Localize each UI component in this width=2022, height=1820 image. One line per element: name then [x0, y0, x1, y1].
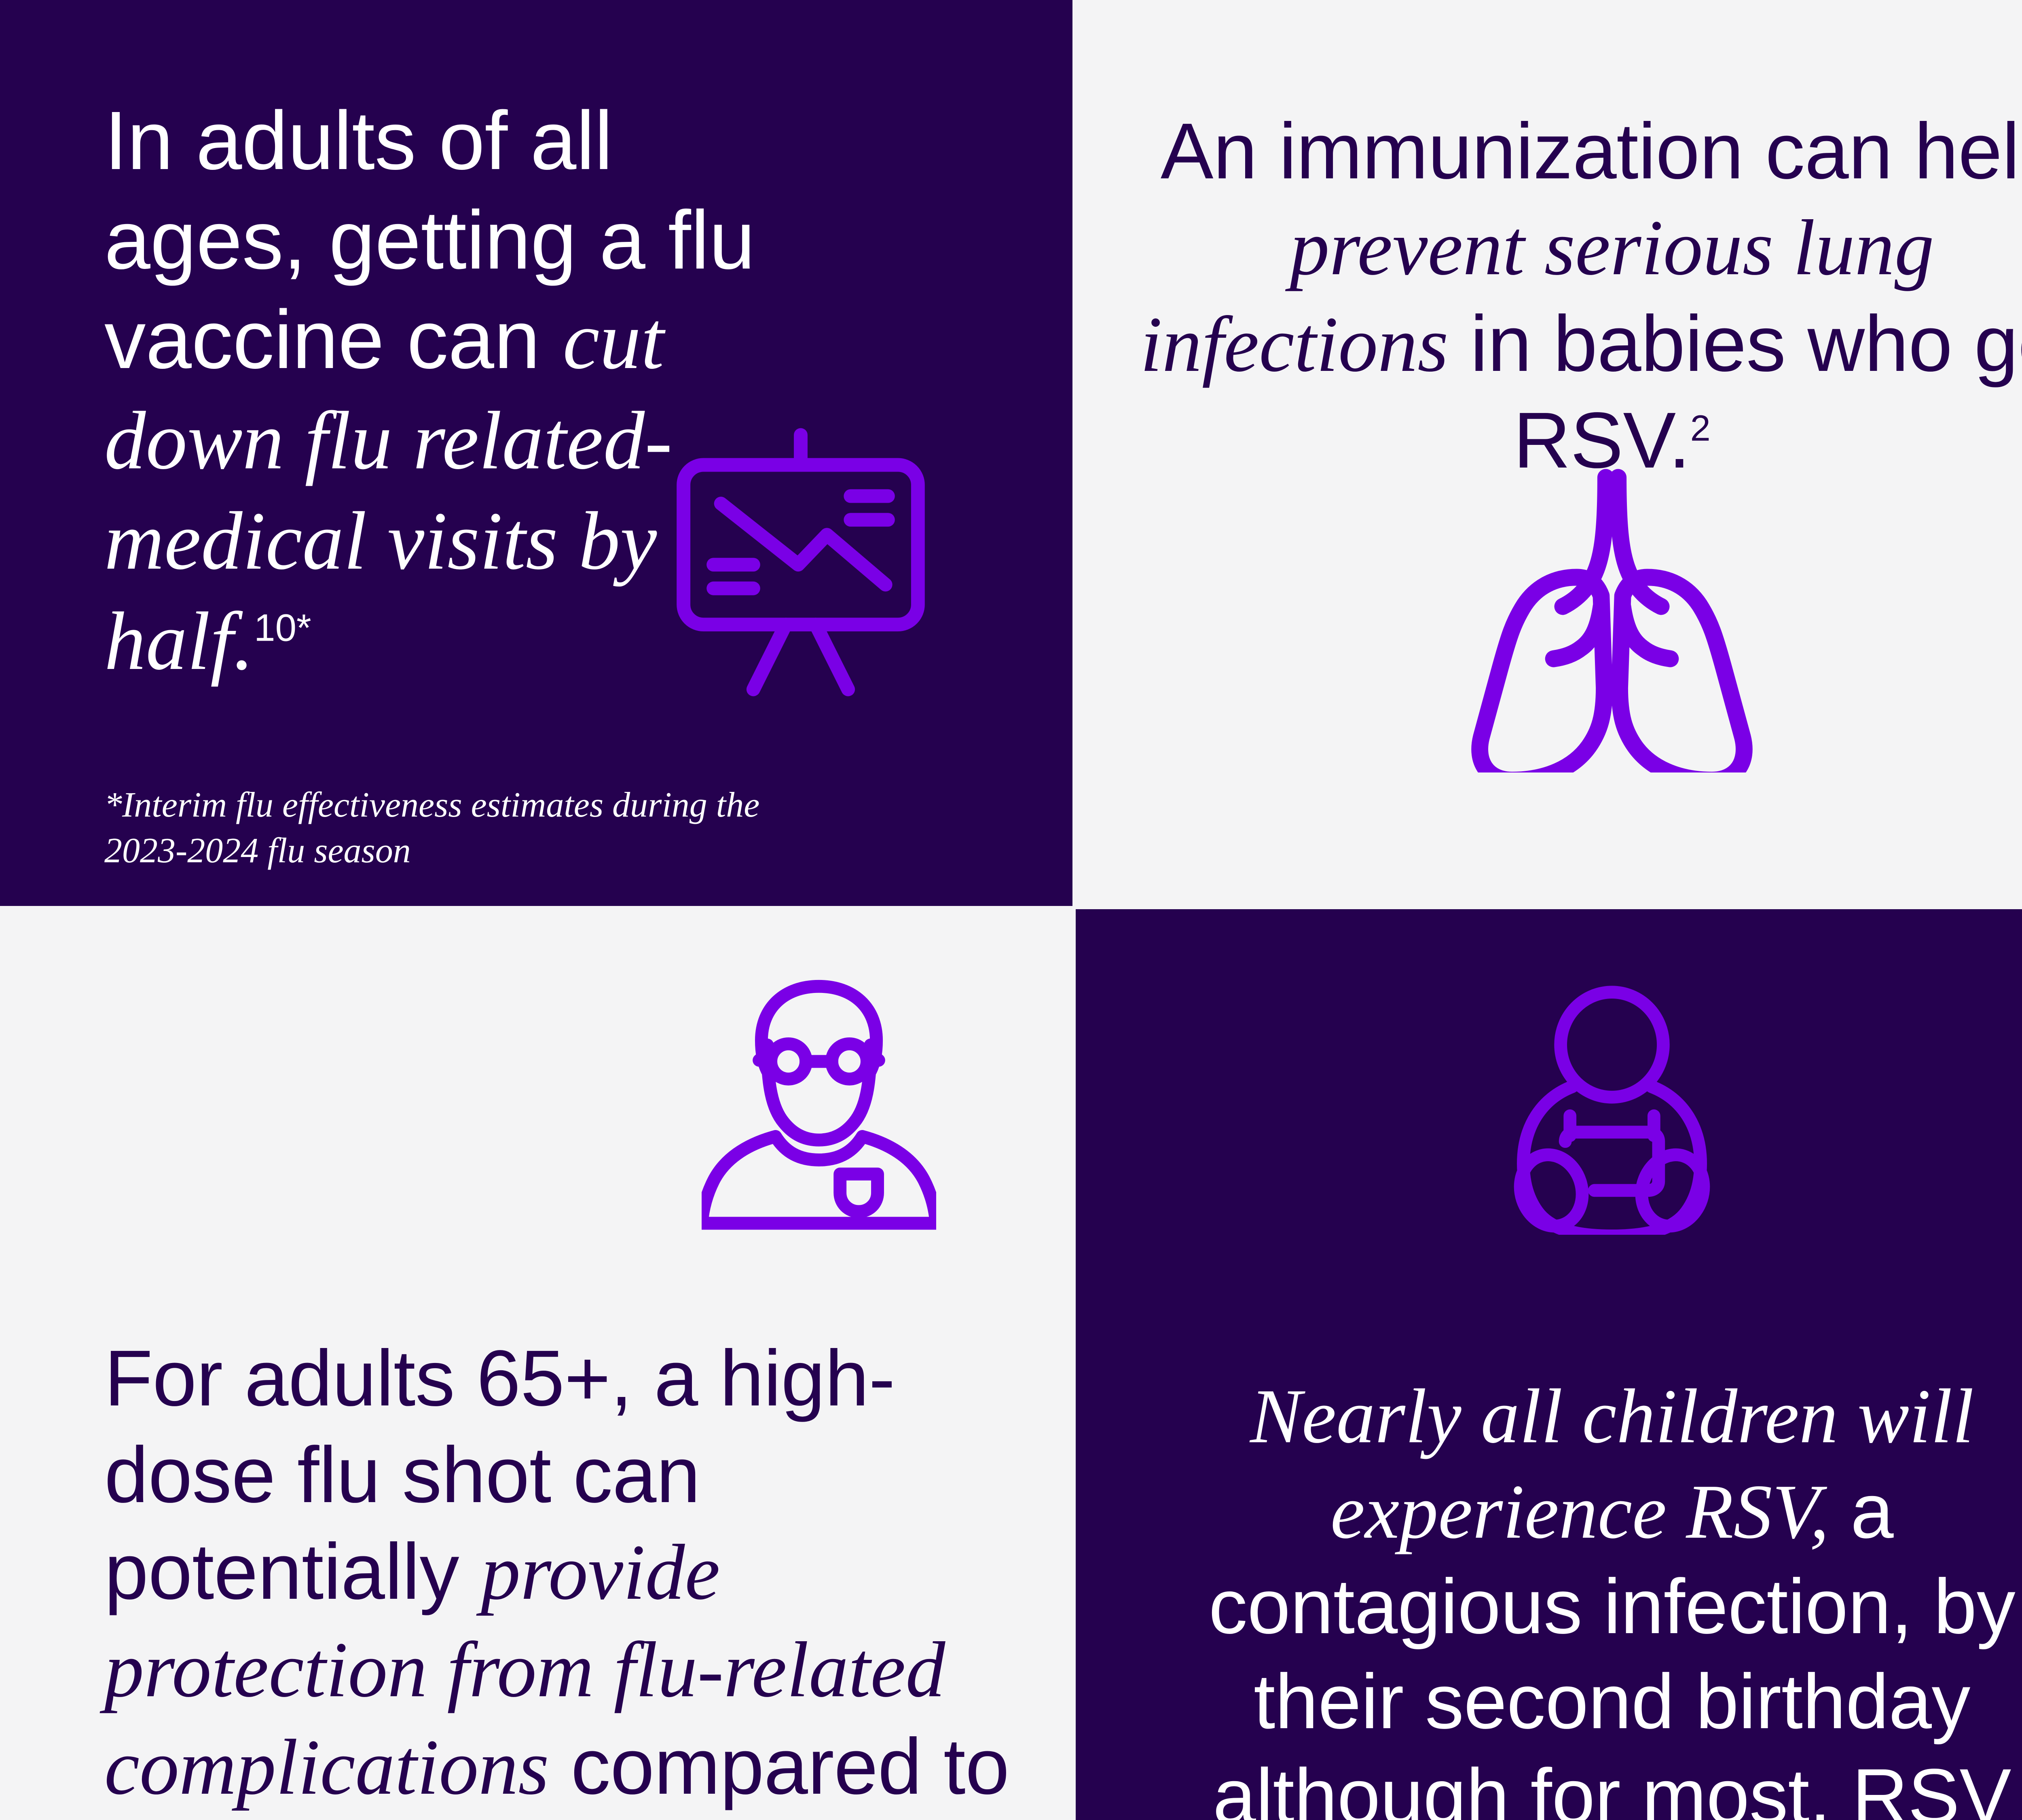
panel-immunization-rsv-statement: An immunization can help prevent serious…: [1135, 103, 2022, 489]
panel-children-rsv-statement: Nearly all children will experience RSV,…: [1147, 1368, 2022, 1820]
panel-children-rsv: Nearly all children will experience RSV,…: [1076, 909, 2022, 1820]
panel-adults-all-ages: In adults of all ages, getting a flu vac…: [0, 0, 1072, 906]
presentation-chart-easel-icon: [651, 425, 950, 700]
statement-superscript-reference: 2: [1690, 408, 1711, 449]
infographic-grid: In adults of all ages, getting a flu vac…: [0, 0, 2022, 1820]
statement-superscript-reference: 10*: [254, 607, 311, 649]
senior-person-with-glasses-icon: [702, 972, 936, 1231]
panel-immunization-rsv: An immunization can help prevent serious…: [1076, 0, 2022, 906]
panel-adults-65-plus: For adults 65+, a high-dose flu shot can…: [0, 909, 1072, 1820]
panel-adults-all-ages-footnote: *Interim flu effectiveness estimates dur…: [104, 783, 792, 874]
statement-plain-lead: An immunization can help: [1161, 107, 2022, 195]
lungs-icon: [1458, 465, 1766, 772]
panel-adults-65-plus-statement: For adults 65+, a high-dose flu shot can…: [104, 1330, 1034, 1820]
baby-sitting-icon: [1495, 984, 1729, 1235]
statement-plain-tail: in babies who get RSV.: [1449, 299, 2022, 485]
